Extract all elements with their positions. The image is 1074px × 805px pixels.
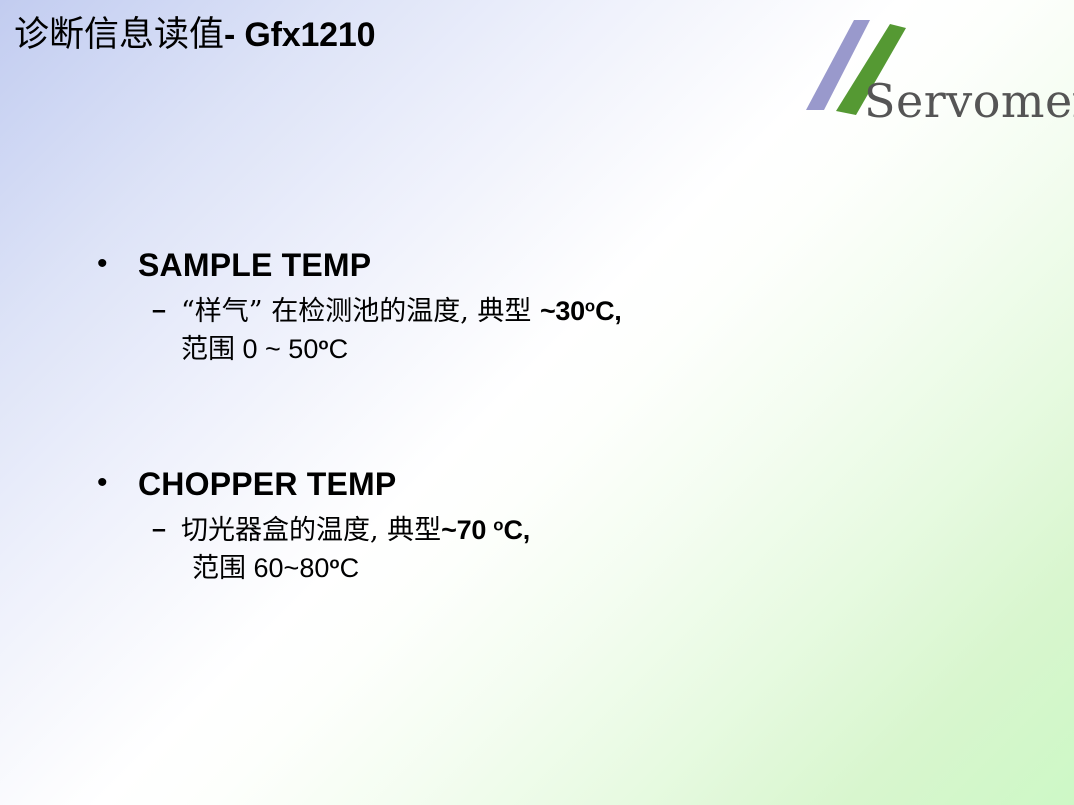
bullet-chopper-temp-label: CHOPPER TEMP xyxy=(138,466,396,502)
chopper-temp-range-value: 60~80 xyxy=(254,553,330,583)
sample-temp-range-value: 0 ~ 50 xyxy=(243,334,319,364)
bullet-sample-temp-label: SAMPLE TEMP xyxy=(138,247,371,283)
sub-bullet-chopper-temp-line2: 范围 60~80oC xyxy=(0,551,1074,587)
logo-wordmark: Servomex xyxy=(864,78,1074,124)
degree-symbol: o xyxy=(493,515,503,534)
slide-body: • SAMPLE TEMP – “样气” 在检测池的温度, 典型 ~30oC, … xyxy=(0,245,1074,587)
bullet-dot-icon: • xyxy=(97,245,108,283)
sample-temp-typical-value: ~30 xyxy=(540,296,585,326)
chopper-temp-typical-value: ~70 xyxy=(441,515,493,545)
bullet-chopper-temp: • CHOPPER TEMP xyxy=(0,464,1074,504)
slide-title-chinese: 诊断信息读值 xyxy=(14,15,224,55)
degree-symbol: o xyxy=(585,296,595,315)
degree-symbol: o xyxy=(318,334,328,353)
chopper-temp-desc-chinese: 切光器盒的温度, 典型 xyxy=(181,515,441,546)
slide-title: 诊断信息读值- Gfx1210 xyxy=(14,6,814,57)
sub-bullet-sample-temp-line2: 范围 0 ~ 50oC xyxy=(0,332,1074,368)
chopper-temp-typical-unit: C, xyxy=(504,515,530,545)
bullet-group-sample-temp: • SAMPLE TEMP – “样气” 在检测池的温度, 典型 ~30oC, … xyxy=(0,245,1074,368)
chopper-temp-range-chinese: 范围 xyxy=(192,553,254,583)
slide-title-model: - Gfx1210 xyxy=(224,16,375,54)
sample-temp-desc-chinese: “样气” 在检测池的温度, 典型 xyxy=(181,296,540,327)
slide-canvas: 诊断信息读值- Gfx1210 Servomex • SAMPLE TEMP –… xyxy=(0,0,1074,805)
degree-symbol: o xyxy=(329,553,339,572)
sub-bullet-chopper-temp-line1: – 切光器盒的温度, 典型~70 oC, xyxy=(0,513,1074,549)
servomex-logo: Servomex xyxy=(784,18,1064,136)
sample-temp-range-unit: C xyxy=(329,334,349,364)
sub-bullet-dash-icon: – xyxy=(152,294,166,327)
bullet-dot-icon: • xyxy=(97,464,108,502)
chopper-temp-range-unit: C xyxy=(340,553,360,583)
bullet-group-chopper-temp: • CHOPPER TEMP – 切光器盒的温度, 典型~70 oC, 范围 6… xyxy=(0,464,1074,587)
sample-temp-range-chinese: 范围 xyxy=(181,334,243,364)
sub-bullet-dash-icon: – xyxy=(152,513,166,546)
bullet-sample-temp: • SAMPLE TEMP xyxy=(0,245,1074,285)
sample-temp-typical-unit: C, xyxy=(595,296,621,326)
sub-bullet-sample-temp-line1: – “样气” 在检测池的温度, 典型 ~30oC, xyxy=(0,294,1074,330)
